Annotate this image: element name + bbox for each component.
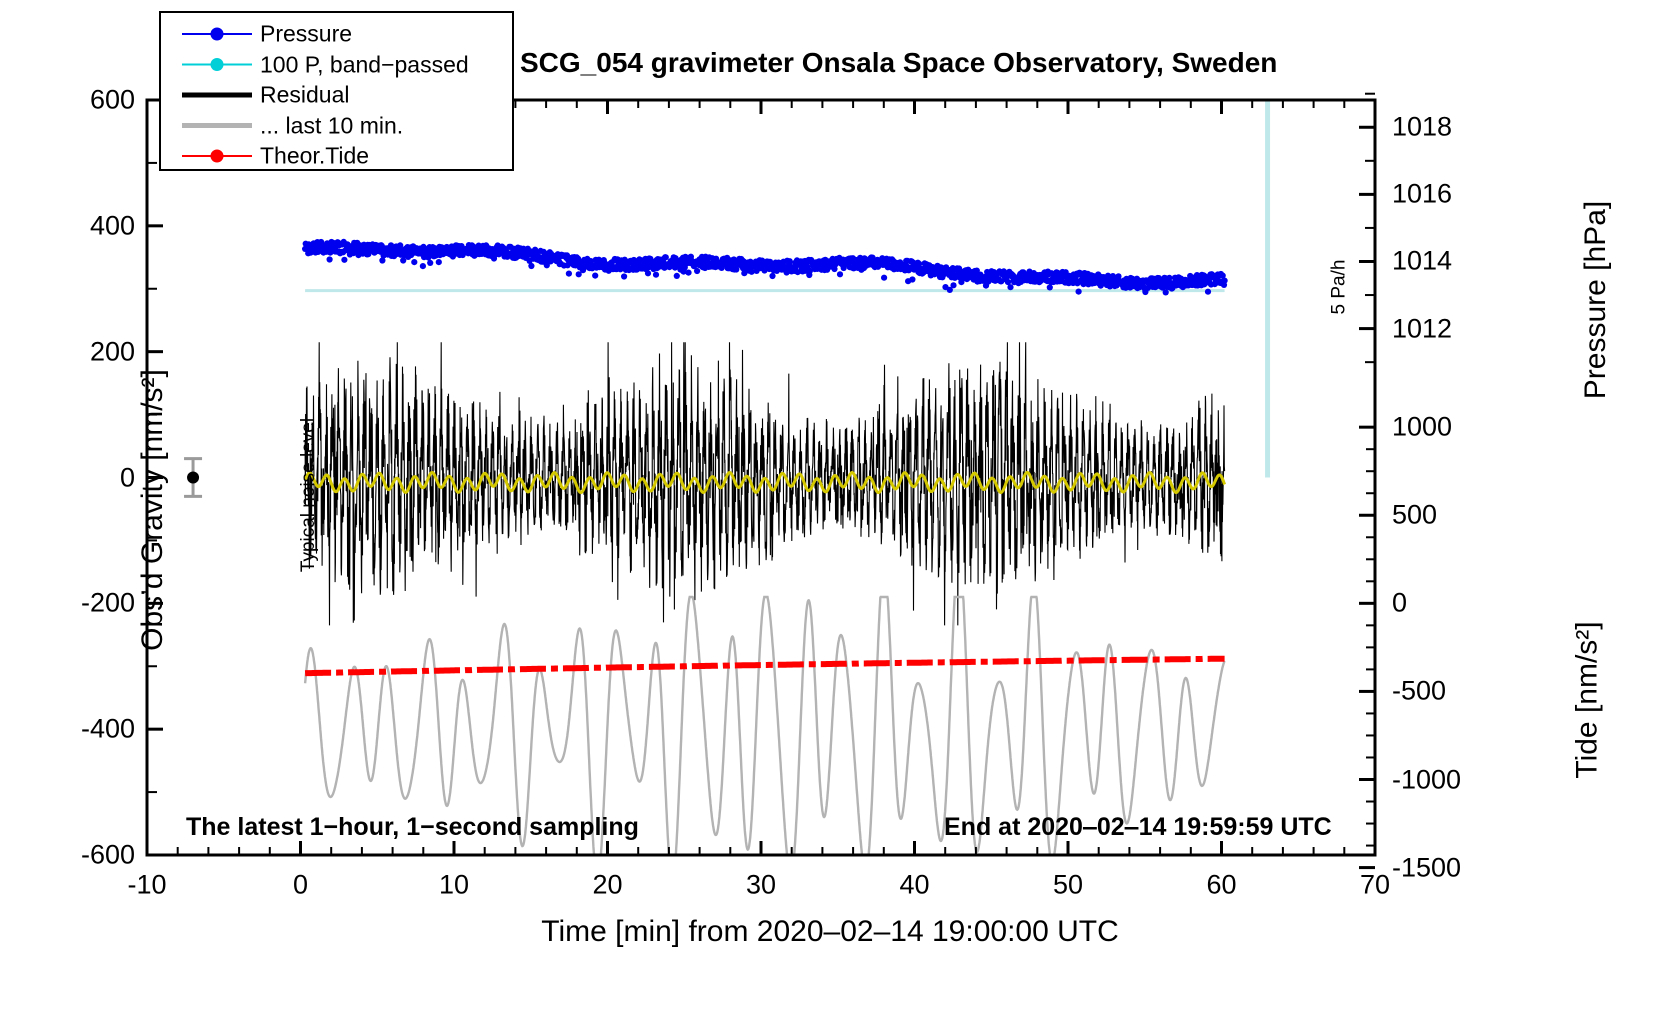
- scale-bar-label: 5 Pa/h: [1328, 260, 1350, 315]
- axis-tick-label: -1500: [1392, 852, 1461, 883]
- legend-item-4[interactable]: ... last 10 min.: [260, 112, 403, 139]
- axis-tick-label: -200: [81, 588, 135, 619]
- axis-tick-label: -1000: [1392, 764, 1461, 795]
- chart-title: SCG_054 gravimeter Onsala Space Observat…: [520, 47, 1277, 79]
- axis-tick-label: -500: [1392, 676, 1446, 707]
- end-time-note: End at 2020‒02‒14 19:59:59 UTC: [944, 813, 1332, 842]
- axis-tick-label: 30: [746, 870, 776, 901]
- axis-tick-label: 0: [1392, 588, 1407, 619]
- chart-canvas: SCG_054 gravimeter Onsala Space Observat…: [0, 0, 1660, 1020]
- axis-tick-label: 0: [120, 462, 135, 493]
- axis-tick-label: 0: [293, 870, 308, 901]
- axis-tick-label: -400: [81, 714, 135, 745]
- y-axis-label-left: Obs’d Gravity [nm/s²]: [136, 369, 170, 651]
- axis-tick-label: 70: [1360, 870, 1390, 901]
- axis-tick-label: 20: [592, 870, 622, 901]
- axis-tick-label: 200: [90, 336, 135, 367]
- axis-tick-label: 1016: [1392, 179, 1452, 210]
- axis-tick-label: 40: [899, 870, 929, 901]
- x-axis-label: Time [min] from 2020‒02‒14 19:00:00 UTC: [541, 915, 1119, 949]
- axis-tick-label: -10: [127, 870, 166, 901]
- axis-tick-label: 1012: [1392, 313, 1452, 344]
- legend-item-2[interactable]: 100 P, band−passed: [260, 51, 469, 78]
- typical-noise-level-label: Typical noise level: [298, 418, 320, 572]
- axis-tick-label: 500: [1392, 500, 1437, 531]
- axis-tick-label: 60: [1206, 870, 1236, 901]
- sampling-note: The latest 1−hour, 1−second sampling: [186, 813, 639, 842]
- legend-item-3[interactable]: Residual: [260, 82, 350, 109]
- axis-tick-label: 1014: [1392, 246, 1452, 277]
- axis-tick-label: -600: [81, 840, 135, 871]
- y-axis-label-right-tide: Tide [nm/s²]: [1571, 621, 1605, 778]
- legend-item-5[interactable]: Theor.Tide: [260, 143, 369, 170]
- axis-tick-label: 50: [1053, 870, 1083, 901]
- y-axis-label-right-pressure: Pressure [hPa]: [1579, 201, 1613, 399]
- axis-tick-label: 400: [90, 210, 135, 241]
- axis-tick-label: 10: [439, 870, 469, 901]
- axis-tick-label: 600: [90, 85, 135, 116]
- axis-tick-label: 1000: [1392, 412, 1452, 443]
- axis-tick-label: 1018: [1392, 112, 1452, 143]
- legend-item-1[interactable]: Pressure: [260, 21, 352, 48]
